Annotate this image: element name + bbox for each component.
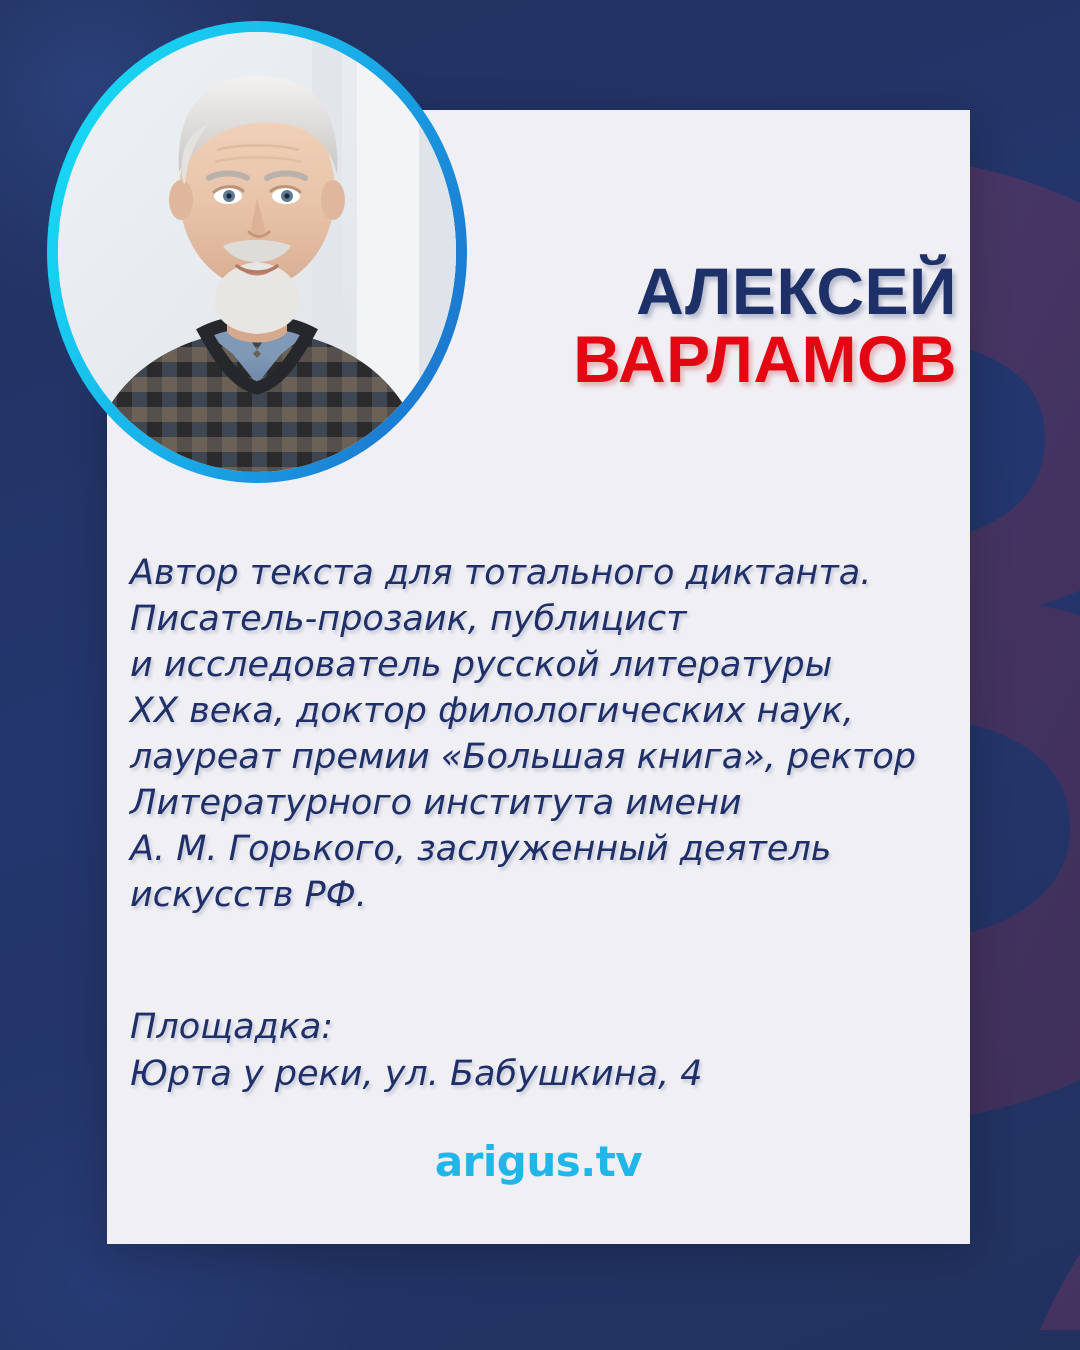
venue-label: Площадка: bbox=[130, 1004, 960, 1051]
speaker-name: АЛЕКСЕЙ ВАРЛАМОВ bbox=[527, 258, 957, 394]
speaker-last-name: ВАРЛАМОВ bbox=[527, 326, 957, 394]
portrait bbox=[47, 21, 467, 483]
brand-logo-text: arigus.tv bbox=[435, 1137, 642, 1186]
portrait-photo bbox=[58, 32, 456, 472]
speaker-first-name: АЛЕКСЕЙ bbox=[527, 258, 957, 326]
venue-block: Площадка: Юрта у реки, ул. Бабушкина, 4 bbox=[130, 1004, 960, 1099]
brand-logo[interactable]: arigus.tv bbox=[107, 1137, 970, 1186]
biography-text: Автор текста для тотального диктанта. Пи… bbox=[130, 550, 960, 918]
body-copy: Автор текста для тотального диктанта. Пи… bbox=[130, 550, 960, 1099]
portrait-ring bbox=[47, 21, 467, 483]
poster-canvas: АЛЕКСЕЙ ВАРЛАМОВ Автор текста для тоталь… bbox=[0, 0, 1080, 1350]
venue-address: Юрта у реки, ул. Бабушкина, 4 bbox=[130, 1051, 960, 1098]
